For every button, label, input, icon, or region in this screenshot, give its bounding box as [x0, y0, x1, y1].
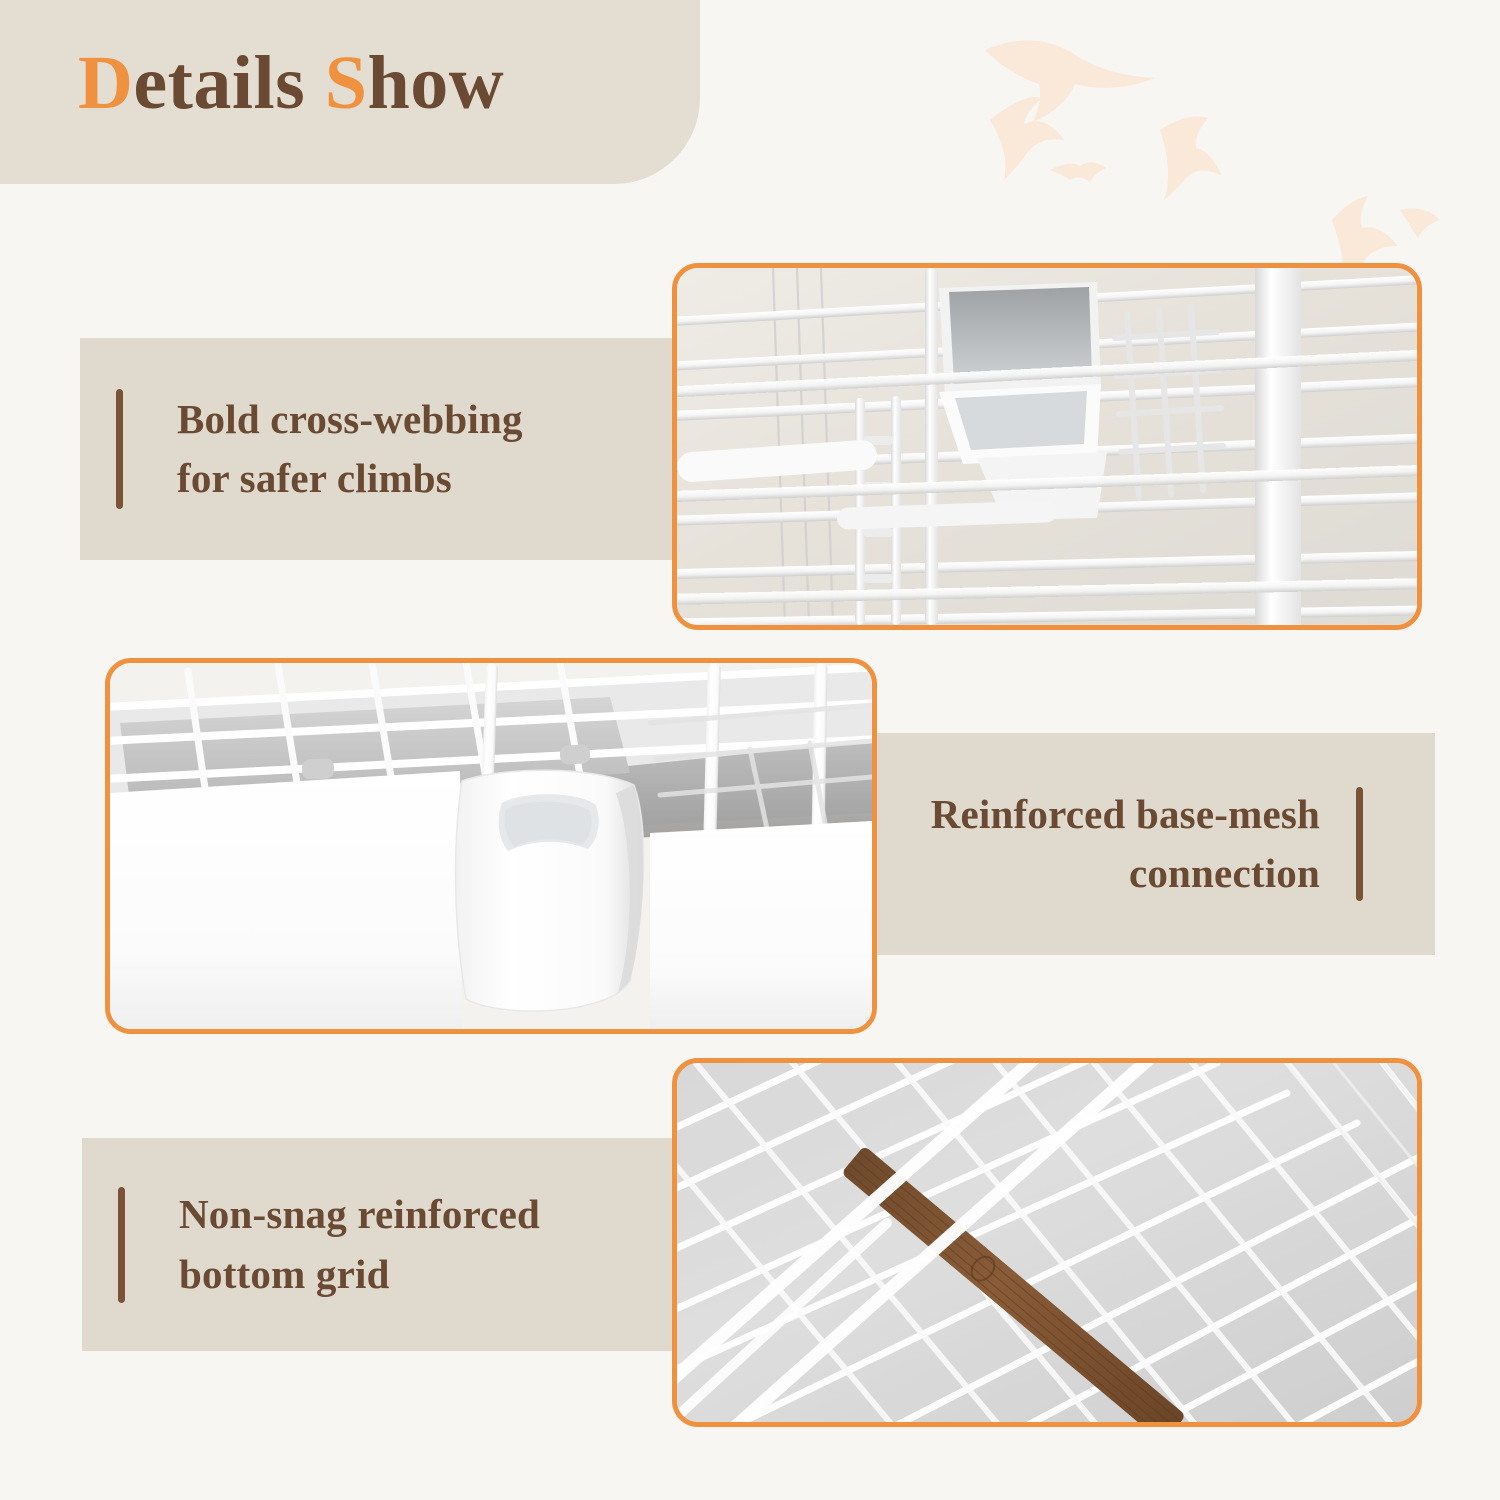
feature-label-line-1: Reinforced base-mesh	[850, 785, 1320, 844]
feature-label-text-base-mesh: Reinforced base-mesh connection	[850, 785, 1320, 904]
page-title-initial-s: S	[325, 41, 368, 125]
cage-bars-illustration	[677, 268, 1417, 625]
feature-label-panel-base-mesh: Reinforced base-mesh connection	[850, 733, 1435, 955]
feature-photo-inner-2	[110, 663, 872, 1029]
page-title-etails: etails	[133, 41, 324, 125]
feature-label-line-1: Non-snag reinforced	[179, 1185, 639, 1244]
feature-label-text-bottom-grid: Non-snag reinforced bottom grid	[179, 1185, 639, 1304]
feature-label-line-1: Bold cross-webbing	[177, 390, 617, 449]
feature-photo-bottom-grid	[672, 1058, 1422, 1427]
feature-label-text-cross-webbing: Bold cross-webbing for safer climbs	[177, 390, 617, 509]
feature-label-line-2: for safer climbs	[177, 449, 617, 508]
feature-label-panel-cross-webbing: Bold cross-webbing for safer climbs	[80, 338, 692, 560]
feature-photo-inner-1	[677, 268, 1417, 625]
page-title-how: how	[368, 41, 505, 125]
page-title: Details Show	[78, 42, 504, 126]
accent-bar-icon	[118, 1187, 125, 1303]
feature-label-line-2: bottom grid	[179, 1245, 639, 1304]
feature-photo-base-mesh	[105, 658, 877, 1034]
infographic-canvas: Details Show Bold cross-webbing for safe…	[0, 0, 1500, 1500]
feature-label-panel-bottom-grid: Non-snag reinforced bottom grid	[82, 1138, 694, 1351]
accent-bar-icon	[1356, 787, 1363, 901]
base-latch-illustration	[110, 663, 872, 1029]
accent-bar-icon	[116, 389, 123, 509]
feature-photo-cross-webbing	[672, 263, 1422, 630]
bottom-grid-illustration	[677, 1063, 1417, 1422]
page-title-initial-d: D	[78, 41, 133, 125]
feature-label-line-2: connection	[850, 844, 1320, 903]
feature-photo-inner-3	[677, 1063, 1417, 1422]
